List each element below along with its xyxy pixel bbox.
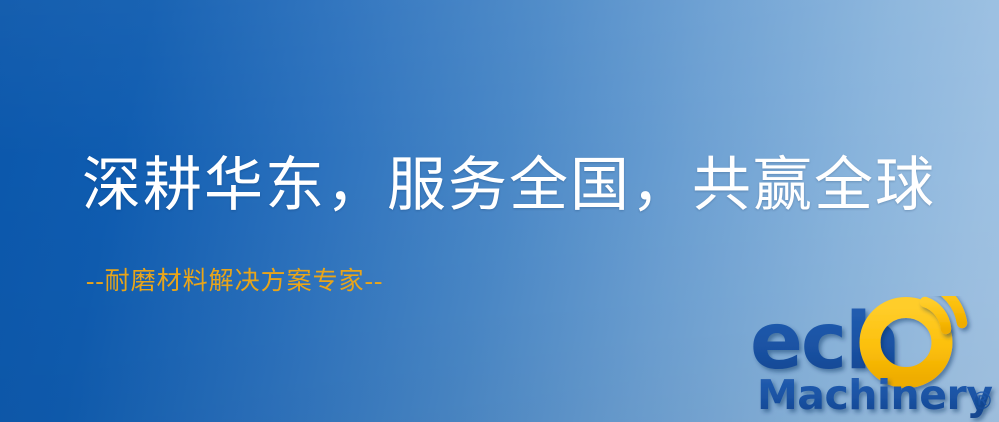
- svg-text:Machinery: Machinery: [757, 371, 992, 419]
- logo-registered-mark: ®: [970, 387, 994, 415]
- headline-text: 深耕华东，服务全国，共赢全球: [82, 150, 936, 220]
- svg-text:®: ®: [970, 387, 994, 415]
- echo-machinery-logo: ech Machinery ®: [748, 296, 999, 422]
- promo-banner: 深耕华东，服务全国，共赢全球 --耐磨材料解决方案专家--: [0, 0, 999, 422]
- logo-tagline-text: Machinery: [757, 371, 992, 419]
- subtitle-text: --耐磨材料解决方案专家--: [86, 266, 383, 298]
